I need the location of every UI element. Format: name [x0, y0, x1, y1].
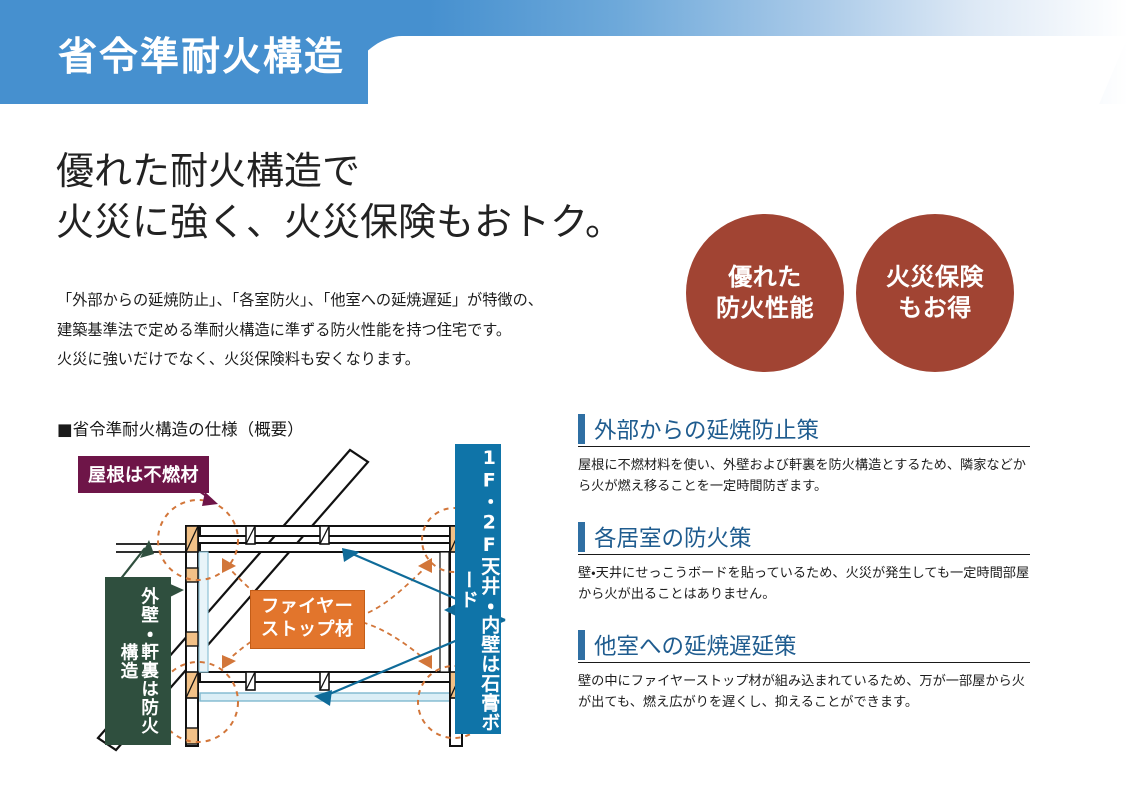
- diagram-caption: ■省令準耐火構造の仕様（概要）: [57, 416, 304, 440]
- intro-paragraph: 「外部からの延焼防止」、「各室防火」、「他室への延焼遅延」が特徴の、 建築基準法…: [57, 286, 657, 375]
- section-room-fire-prevention: 各居室の防火策 壁・天井にせっこうボードを貼っているため、火災が発生しても一定時…: [578, 522, 1030, 606]
- section-exterior-spread-prevention: 外部からの延焼防止策 屋根に不燃材料を使い、外壁および軒裏を防火構造とするため、…: [578, 414, 1030, 498]
- section-accent-bar: [578, 630, 585, 660]
- feature-sections: 外部からの延焼防止策 屋根に不燃材料を使い、外壁および軒裏を防火構造とするため、…: [578, 414, 1030, 737]
- section-1-header: 外部からの延焼防止策: [578, 414, 1030, 447]
- badge-insurance-discount: 火災保険 もお得: [856, 214, 1014, 372]
- header-notch-shape: [368, 0, 1128, 108]
- page-header: 省令準耐火構造: [0, 0, 1128, 108]
- section-3-body: 壁の中にファイヤーストップ材が組み込まれているため、万が一部屋から火が出ても、燃…: [578, 671, 1030, 714]
- section-2-title: 各居室の防火策: [594, 528, 752, 552]
- diagram-label-firestop: ファイヤー ストップ材: [250, 590, 365, 649]
- badge-2-line-2: もお得: [886, 293, 984, 324]
- badge-1-line-2: 防火性能: [716, 293, 814, 324]
- section-1-title: 外部からの延焼防止策: [594, 420, 819, 444]
- badge-1-line-1: 優れた: [716, 262, 814, 293]
- diagram-label-exterior-wall: 外壁・軒裏は防火構造: [105, 577, 171, 745]
- diagram-label-gypsum-board: 1F・2F天井・内壁は石膏ボード: [455, 444, 501, 734]
- firestop-label-line-1: ファイヤー: [261, 596, 354, 619]
- section-2-body: 壁・天井にせっこうボードを貼っているため、火災が発生しても一定時間部屋から火が出…: [578, 563, 1030, 606]
- section-1-body: 屋根に不燃材料を使い、外壁および軒裏を防火構造とするため、隣家などから火が燃え移…: [578, 455, 1030, 498]
- section-other-room-delay: 他室への延焼遅延策 壁の中にファイヤーストップ材が組み込まれているため、万が一部…: [578, 630, 1030, 714]
- headline-line-2: 火災に強く、火災保険もおトク。: [56, 197, 696, 248]
- firestop-label-line-2: ストップ材: [261, 619, 354, 642]
- diagram-label-roof: 屋根は不燃材: [78, 456, 209, 493]
- badge-fire-performance: 優れた 防火性能: [686, 214, 844, 372]
- section-3-title: 他室への延焼遅延策: [594, 636, 797, 660]
- section-2-header: 各居室の防火策: [578, 522, 1030, 555]
- headline-line-1: 優れた耐火構造で: [56, 146, 696, 197]
- section-accent-bar: [578, 414, 585, 444]
- left-wall-post: [186, 526, 208, 746]
- section-3-header: 他室への延焼遅延策: [578, 630, 1030, 663]
- headline: 優れた耐火構造で 火災に強く、火災保険もおトク。: [56, 146, 696, 249]
- badge-2-line-1: 火災保険: [886, 262, 984, 293]
- intro-line-2: 建築基準法で定める準耐火構造に準ずる防火性能を持つ住宅です。: [57, 316, 657, 346]
- page-title: 省令準耐火構造: [58, 26, 345, 82]
- intro-line-1: 「外部からの延焼防止」、「各室防火」、「他室への延焼遅延」が特徴の、: [57, 286, 657, 316]
- intro-line-3: 火災に強いだけでなく、火災保険料も安くなります。: [57, 345, 657, 375]
- section-accent-bar: [578, 522, 585, 552]
